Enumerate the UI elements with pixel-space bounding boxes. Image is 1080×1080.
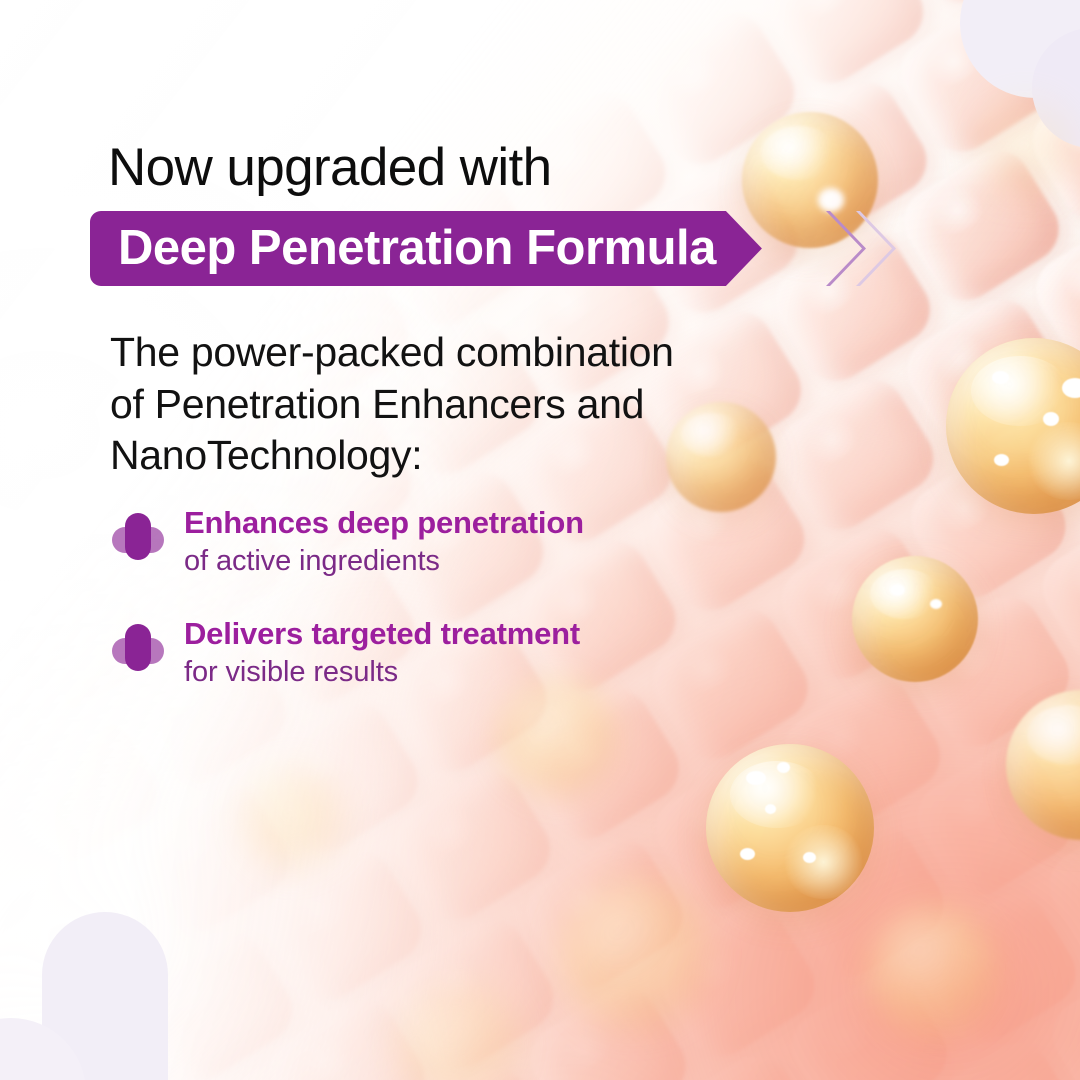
list-item: Enhances deep penetration of active ingr…: [112, 505, 872, 578]
benefit-subtitle: for visible results: [184, 655, 872, 690]
lede-line: of Penetration Enhancers and: [110, 379, 674, 431]
content-layer: Now upgraded with Deep Penetration Formu…: [0, 0, 1080, 1080]
chevron-arrow-mid-icon: [826, 211, 866, 286]
benefit-list: Enhances deep penetration of active ingr…: [112, 505, 872, 728]
lede-paragraph: The power-packed combination of Penetrat…: [110, 327, 674, 482]
benefit-title: Delivers targeted treatment: [184, 616, 872, 653]
formula-banner: Deep Penetration Formula: [90, 211, 762, 286]
promo-canvas: Now upgraded with Deep Penetration Formu…: [0, 0, 1080, 1080]
plus-icon-vertical-bar: [125, 624, 151, 671]
plus-icon-vertical-bar: [125, 513, 151, 560]
benefit-title: Enhances deep penetration: [184, 505, 872, 542]
plus-icon: [112, 513, 164, 565]
formula-banner-body: Deep Penetration Formula: [90, 211, 762, 286]
formula-banner-title: Deep Penetration Formula: [118, 224, 716, 273]
list-item: Delivers targeted treatment for visible …: [112, 616, 872, 689]
plus-icon: [112, 624, 164, 676]
lede-line: The power-packed combination: [110, 327, 674, 379]
benefit-subtitle: of active ingredients: [184, 544, 872, 579]
eyebrow-heading: Now upgraded with: [108, 140, 552, 196]
lede-line: NanoTechnology:: [110, 430, 674, 482]
